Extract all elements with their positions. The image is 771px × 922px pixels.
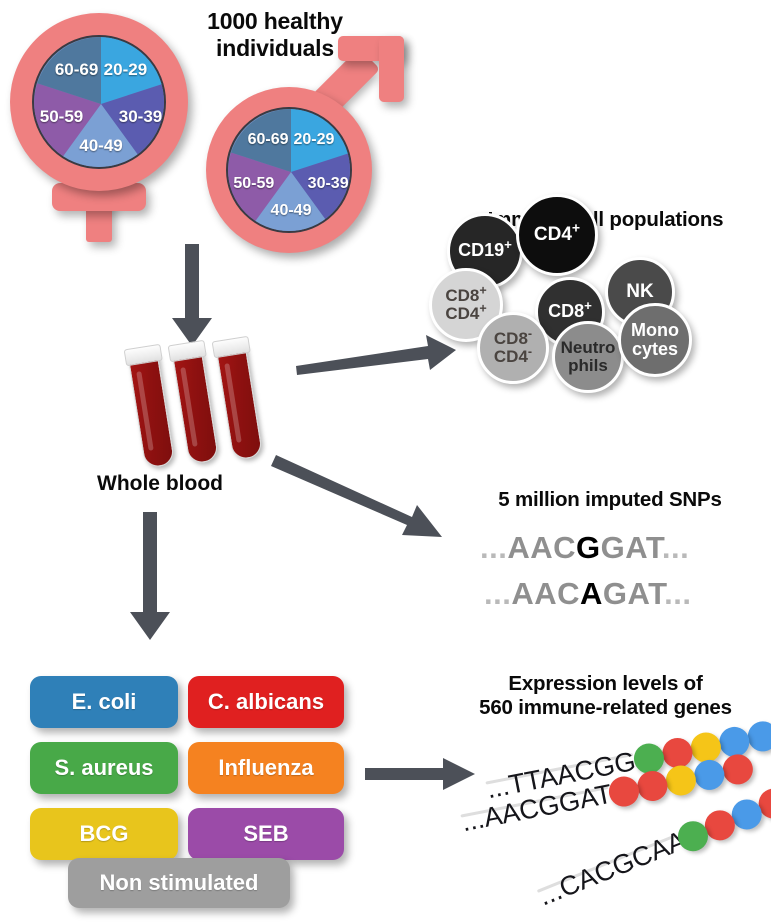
expression-bead-red <box>700 806 739 845</box>
blood-tubes-group <box>120 348 300 478</box>
expression-bead-yellow <box>663 763 698 798</box>
tube-body <box>172 349 219 464</box>
stimulus-label: Non stimulated <box>100 870 259 896</box>
snp-left-flank: AAC <box>507 530 576 565</box>
snp-section-title: 5 million imputed SNPs <box>455 488 765 512</box>
pie-label-20-29-male: 20-29 <box>293 131 334 149</box>
immune-cell-mono-cytes: Monocytes <box>618 303 692 377</box>
arrow-blood-to-stimuli <box>130 512 170 644</box>
gene-strand-2: ...AACGGAT <box>459 746 771 841</box>
expression-bead-blue <box>692 757 727 792</box>
pie-label-60-69-female: 60-69 <box>55 60 98 80</box>
cell-label: CD19+ <box>458 241 512 260</box>
expression-bead-blue <box>745 719 771 754</box>
stimulus-influenza[interactable]: Influenza <box>188 742 344 794</box>
immune-cell-cd8-cd4: CD8-CD4- <box>477 312 549 384</box>
strand-sequence: ...TTAACGG <box>484 746 638 805</box>
snp-prefix: ... <box>480 530 507 565</box>
expression-bead-yellow <box>688 730 723 765</box>
snp-sequences-group: ...AACGGAT......AACAGAT... <box>480 530 760 620</box>
immune-section-title: Immune cell populations <box>440 208 771 232</box>
snp-right-flank: GAT <box>603 576 664 611</box>
stimulus-label: Influenza <box>218 755 313 781</box>
pie-label-20-29-female: 20-29 <box>104 60 147 80</box>
cohort-title-line1: 1000 healthy <box>168 8 382 35</box>
expression-bead-red <box>754 784 771 823</box>
whole-blood-label: Whole blood <box>60 472 260 496</box>
cell-label: CD8+ <box>548 302 592 321</box>
expression-bead-red <box>660 735 695 770</box>
cell-label: NK <box>626 282 653 302</box>
expression-bead-red <box>606 774 641 809</box>
expression-section-title: Expression levels of 560 immune-related … <box>440 672 771 720</box>
cell-label: CD8-CD4- <box>494 330 532 366</box>
male-age-pie: 20-2930-3940-4950-5960-69 <box>226 107 352 233</box>
snp-variant-allele: G <box>576 530 601 565</box>
expression-bead-green <box>673 817 712 856</box>
snp-variant-allele: A <box>580 576 603 611</box>
gene-strand-1: ...TTAACGG <box>484 713 771 808</box>
immune-cell-neutro-phils: Neutrophils <box>552 321 624 393</box>
arrow-blood-to-snps <box>276 455 446 545</box>
male-arrow-head-v <box>379 36 404 102</box>
snp-suffix: ... <box>662 530 689 565</box>
tube-gloss <box>136 371 153 451</box>
snp-sequence-row-2: ...AACAGAT... <box>484 576 691 612</box>
expression-bead-blue <box>717 724 752 759</box>
pie-label-50-59-male: 50-59 <box>233 175 274 193</box>
snp-suffix: ... <box>664 576 691 611</box>
stimulus-label: SEB <box>243 821 288 847</box>
tube-body <box>216 345 263 460</box>
expression-bead-red <box>720 752 755 787</box>
arrow-blood-to-immune <box>296 330 456 380</box>
expression-bead-green <box>631 741 666 776</box>
immune-cell-cd8-: CD8+ <box>535 277 605 347</box>
arrow-stimuli-to-expression <box>365 758 475 790</box>
pie-label-60-69-male: 60-69 <box>248 131 289 149</box>
expression-title-line1: Expression levels of <box>440 672 771 696</box>
snp-left-flank: AAC <box>511 576 580 611</box>
cell-label: Monocytes <box>631 321 679 359</box>
pie-label-30-39-female: 30-39 <box>119 107 162 127</box>
tube-gloss <box>224 363 241 443</box>
pie-label-30-39-male: 30-39 <box>308 175 349 193</box>
stimulus-seb[interactable]: SEB <box>188 808 344 860</box>
immune-cell-nk: NK <box>605 257 675 327</box>
snp-sequence-row-1: ...AACGGAT... <box>480 530 689 566</box>
stimulus-label: S. aureus <box>54 755 153 781</box>
cell-label: CD8+CD4+ <box>445 287 486 323</box>
pie-label-50-59-female: 50-59 <box>40 107 83 127</box>
stimulus-bcg[interactable]: BCG <box>30 808 178 860</box>
stimulus-label: C. albicans <box>208 689 324 715</box>
stimulus-non-stimulated[interactable]: Non stimulated <box>68 858 290 908</box>
pie-label-40-49-male: 40-49 <box>271 202 312 220</box>
strand-sequence: ...CACGCAA <box>534 825 690 912</box>
cell-label: Neutrophils <box>561 339 616 375</box>
stimulus-s-aureus[interactable]: S. aureus <box>30 742 178 794</box>
pie-label-40-49-female: 40-49 <box>79 136 122 156</box>
tube-gloss <box>180 367 197 447</box>
snp-right-flank: GAT <box>601 530 662 565</box>
expression-bead-red <box>635 768 670 803</box>
stimulus-e-coli[interactable]: E. coli <box>30 676 178 728</box>
snp-prefix: ... <box>484 576 511 611</box>
immune-cell-cd4-: CD4+ <box>516 194 598 276</box>
strand-backbone <box>485 753 633 785</box>
strand-backbone <box>460 786 608 818</box>
strand-sequence: ...AACGGAT <box>459 779 615 839</box>
strand-backbone <box>537 834 677 893</box>
expression-title-line2: 560 immune-related genes <box>440 696 771 720</box>
stimulus-c-albicans[interactable]: C. albicans <box>188 676 344 728</box>
figure-canvas: 1000 healthy individuals 20-2930-3940-49… <box>0 0 771 922</box>
female-age-pie: 20-2930-3940-4950-5960-69 <box>32 35 166 169</box>
stimulus-label: BCG <box>80 821 129 847</box>
stimulus-label: E. coli <box>72 689 137 715</box>
tube-body <box>128 353 175 468</box>
arrow-cohort-to-blood <box>172 244 212 350</box>
expression-bead-blue <box>727 795 766 834</box>
gene-strand-3: ...CACGCAA <box>533 764 771 914</box>
